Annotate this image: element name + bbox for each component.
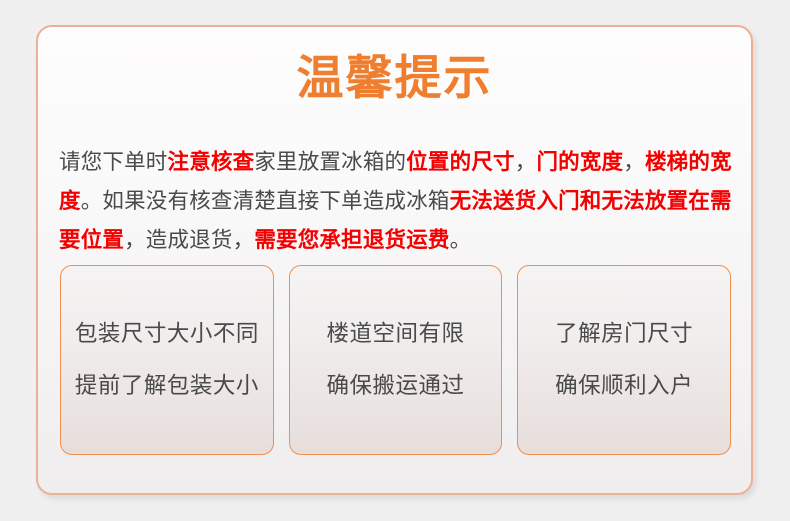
- notice-body-segment-8: 。如果没有核查清楚直接下单造成冰箱: [81, 189, 450, 213]
- notice-body-segment-5: 门的宽度: [536, 150, 623, 174]
- notice-body-segment-4: ，: [515, 150, 537, 174]
- feature-box-corridor: 楼道空间有限 确保搬运通过: [289, 265, 503, 455]
- feature-box-line-1: 了解房门尺寸: [555, 323, 693, 346]
- feature-box-line-2: 提前了解包装大小: [75, 375, 259, 398]
- notice-body-segment-10: ，造成退货，: [124, 228, 254, 252]
- notice-body-segment-3: 位置的尺寸: [406, 150, 515, 174]
- notice-body-text: 请您下单时注意核查家里放置冰箱的位置的尺寸，门的宽度，楼梯的宽度。如果没有核查清…: [59, 143, 732, 260]
- feature-box-line-2: 确保搬运通过: [327, 375, 465, 398]
- notice-card: 温馨提示 请您下单时注意核查家里放置冰箱的位置的尺寸，门的宽度，楼梯的宽度。如果…: [36, 25, 753, 495]
- feature-box-doorway: 了解房门尺寸 确保顺利入户: [517, 265, 731, 455]
- notice-body-segment-12: 。: [450, 228, 472, 252]
- notice-body-segment-6: ，: [623, 150, 645, 174]
- feature-box-line-1: 包装尺寸大小不同: [75, 323, 259, 346]
- notice-body-segment-2: 家里放置冰箱的: [254, 150, 406, 174]
- feature-box-row: 包装尺寸大小不同 提前了解包装大小 楼道空间有限 确保搬运通过 了解房门尺寸 确…: [60, 265, 731, 455]
- feature-box-line-2: 确保顺利入户: [555, 375, 693, 398]
- feature-box-line-1: 楼道空间有限: [327, 323, 465, 346]
- notice-body-segment-0: 请您下单时: [59, 150, 168, 174]
- feature-box-packaging: 包装尺寸大小不同 提前了解包装大小: [60, 265, 274, 455]
- notice-page: 温馨提示 请您下单时注意核查家里放置冰箱的位置的尺寸，门的宽度，楼梯的宽度。如果…: [0, 0, 790, 521]
- page-title: 温馨提示: [38, 53, 751, 102]
- notice-body-segment-11: 需要您承担退货运费: [254, 228, 449, 252]
- notice-body-segment-1: 注意核查: [168, 150, 255, 174]
